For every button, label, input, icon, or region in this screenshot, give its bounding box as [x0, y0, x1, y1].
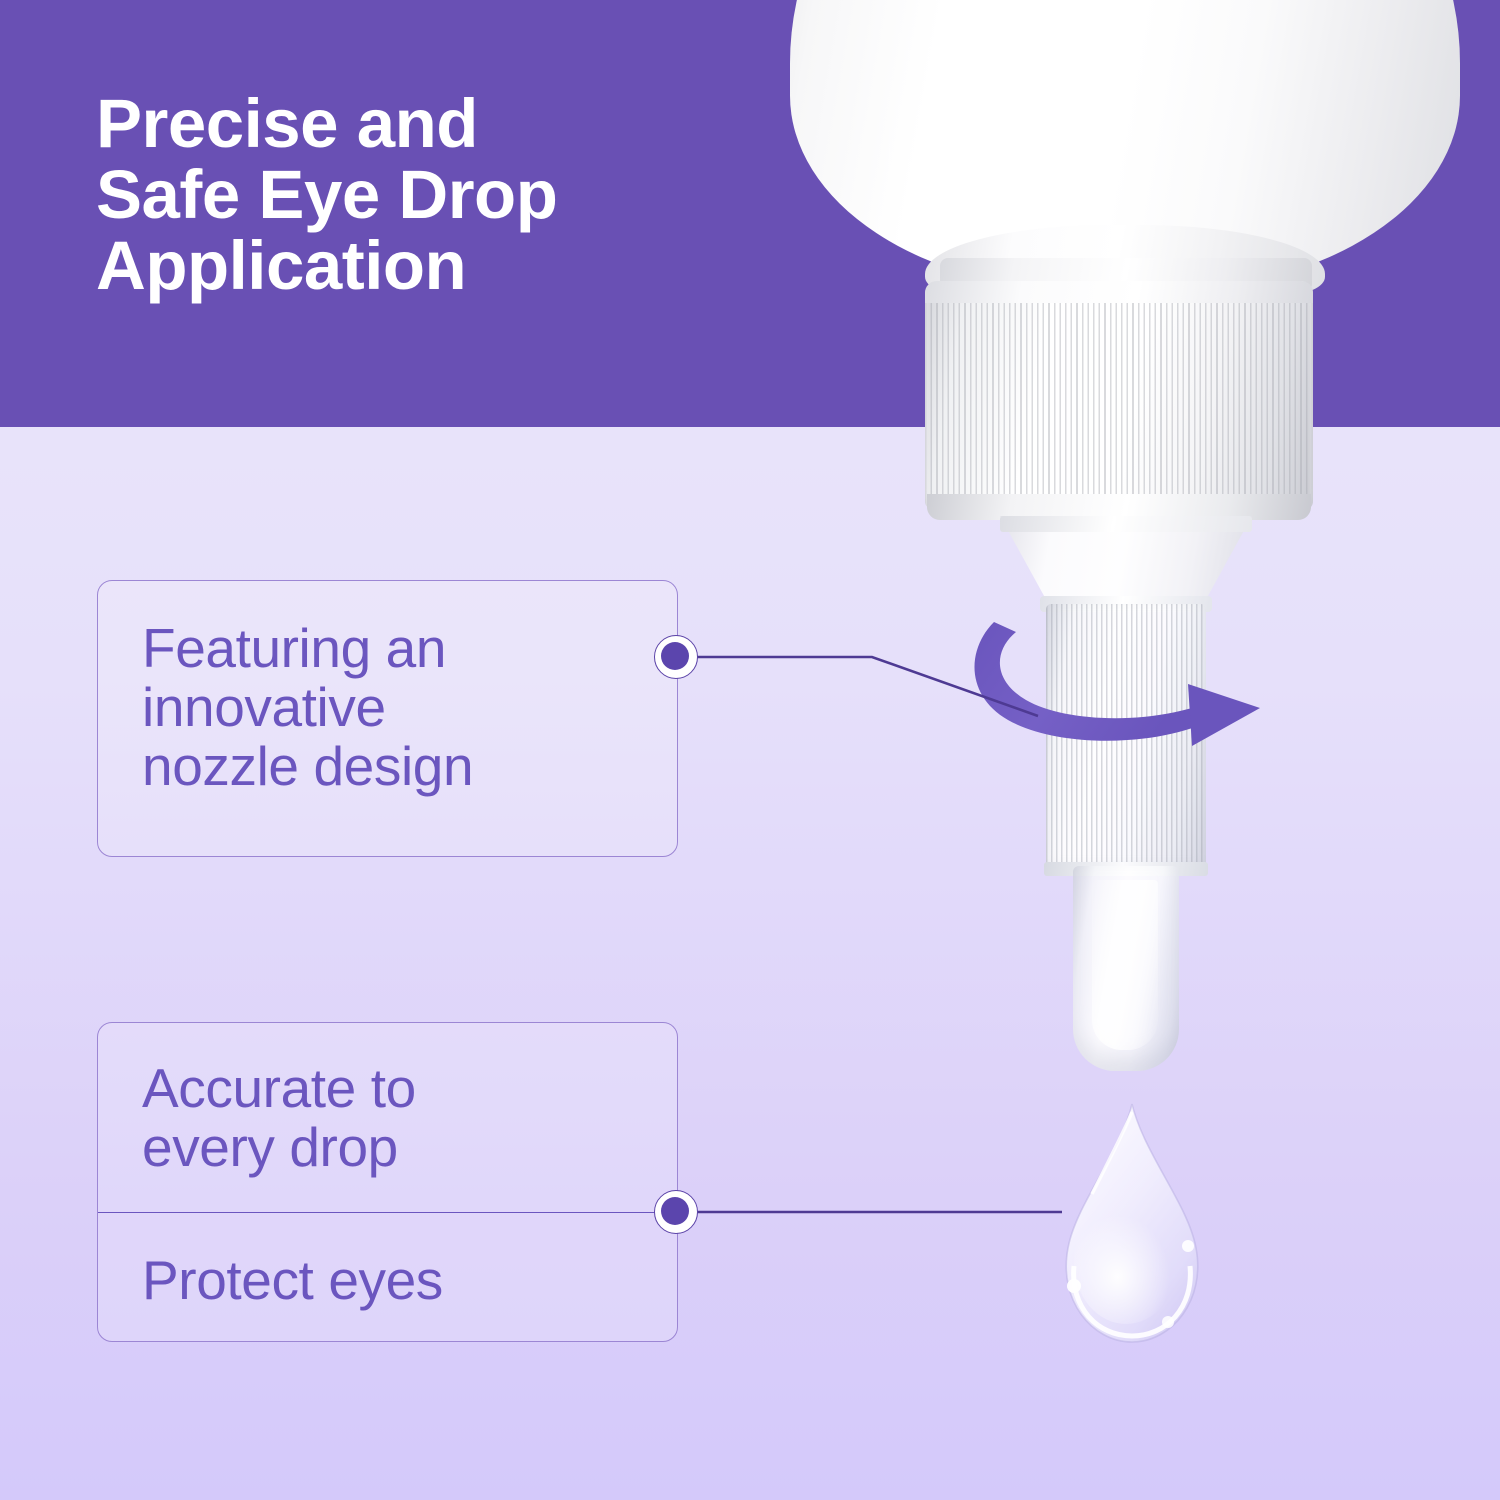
rotation-arrow-icon [960, 580, 1300, 770]
leader-line-to-nozzle [676, 657, 1038, 716]
callout-accurate-text: Accurate to every drop [142, 1059, 416, 1177]
connector-dot-droplet [654, 1190, 698, 1234]
callout-protect-eyes-text: Protect eyes [142, 1251, 443, 1310]
clear-nozzle-tip [1073, 866, 1179, 1071]
nozzle-top-ring [1040, 596, 1212, 612]
callout-box-nozzle-design: Featuring an innovative nozzle design [97, 580, 678, 857]
cap-bottom-lip [927, 494, 1311, 520]
page-title: Precise and Safe Eye Drop Application [96, 88, 796, 301]
callout-box-accuracy: Accurate to every drop Protect eyes [97, 1022, 678, 1342]
nozzle-tip-highlight [1092, 880, 1158, 1050]
callout-divider [98, 1212, 677, 1213]
collar-rim [1000, 516, 1252, 532]
infographic-canvas: Precise and Safe Eye Drop Application Fe… [0, 0, 1500, 1500]
connector-dot-nozzle [654, 635, 698, 679]
water-droplet-icon [1048, 1098, 1216, 1350]
ribbed-nozzle-sleeve [1046, 604, 1206, 874]
tapered-collar [1000, 516, 1252, 612]
callout-nozzle-design-text: Featuring an innovative nozzle design [142, 619, 473, 796]
nozzle-bottom-ring [1044, 862, 1208, 876]
